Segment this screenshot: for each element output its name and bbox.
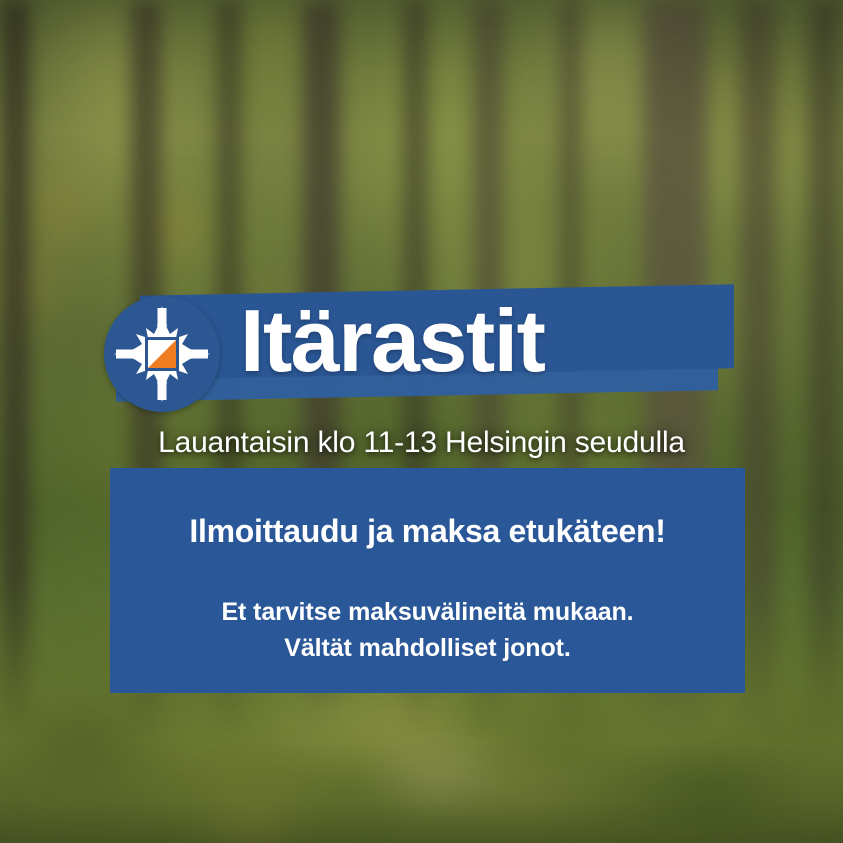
page-title: Itärastit bbox=[240, 286, 544, 396]
announcement-panel: Ilmoittaudu ja maksa etukäteen! Et tarvi… bbox=[110, 468, 745, 693]
poster-canvas: Itärastit Lauantaisin klo 11-13 Helsingi… bbox=[0, 0, 843, 843]
background-vignette-overlay bbox=[0, 0, 843, 843]
background-photo-canopy bbox=[0, 0, 843, 843]
background-photo-base bbox=[0, 0, 843, 843]
benefit-line-2: Vältät mahdolliset jonot. bbox=[221, 631, 633, 667]
announcement-benefit-list: Et tarvitse maksuvälineitä mukaan. Vältä… bbox=[221, 595, 633, 666]
itarastit-compass-logo-icon bbox=[104, 296, 220, 412]
background-photo-moss-ground bbox=[0, 0, 843, 843]
benefit-line-1: Et tarvitse maksuvälineitä mukaan. bbox=[221, 595, 633, 631]
header-banner: Itärastit bbox=[0, 286, 843, 416]
event-schedule-subtitle: Lauantaisin klo 11-13 Helsingin seudulla bbox=[0, 426, 843, 460]
announcement-headline: Ilmoittaudu ja maksa etukäteen! bbox=[189, 514, 665, 549]
background-photo-autumn-foliage bbox=[0, 0, 843, 843]
background-photo-tree-trunks bbox=[0, 0, 843, 843]
